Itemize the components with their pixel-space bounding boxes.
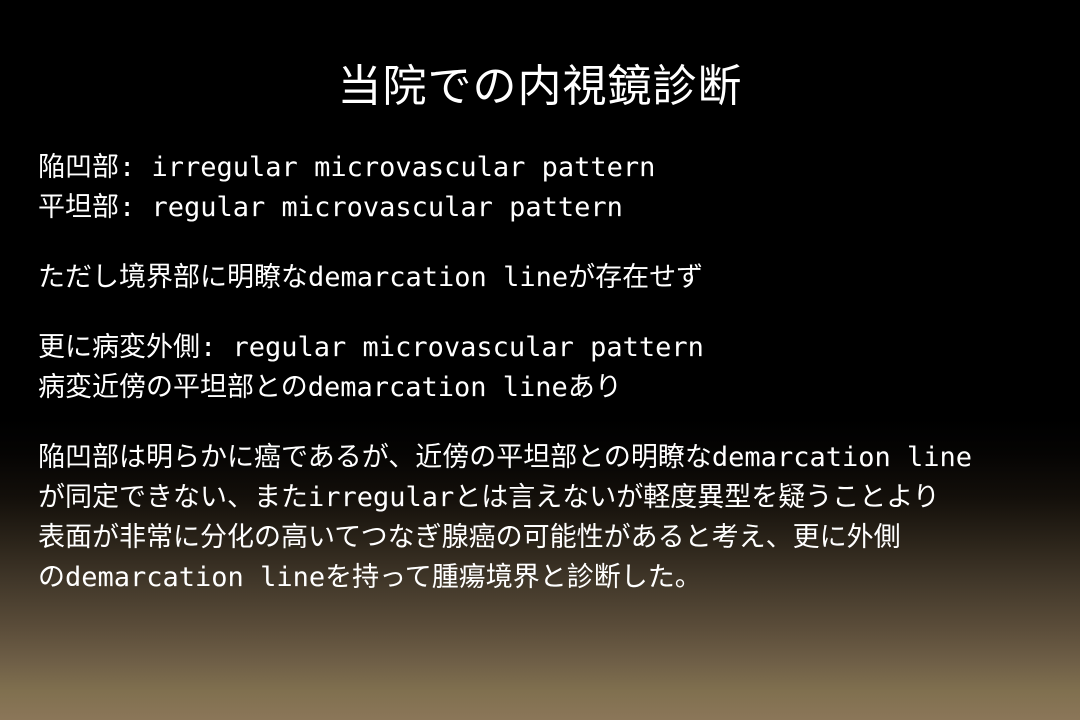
slide-body: 陥凹部: irregular microvascular pattern 平坦部… bbox=[38, 148, 1052, 598]
text-line: 陥凹部は明らかに癌であるが、近傍の平坦部との明瞭なdemarcation lin… bbox=[38, 438, 1052, 478]
text-line: 平坦部: regular microvascular pattern bbox=[38, 188, 1052, 228]
slide-title: 当院での内視鏡診断 bbox=[0, 61, 1080, 113]
text-line: 病変近傍の平坦部とのdemarcation lineあり bbox=[38, 368, 1052, 408]
text-line: 表面が非常に分化の高いてつなぎ腺癌の可能性があると考え、更に外側 bbox=[38, 518, 1052, 558]
text-line: 陥凹部: irregular microvascular pattern bbox=[38, 148, 1052, 188]
text-line: ただし境界部に明瞭なdemarcation lineが存在せず bbox=[38, 258, 1052, 298]
paragraph-diagnosis-conclusion: 陥凹部は明らかに癌であるが、近傍の平坦部との明瞭なdemarcation lin… bbox=[38, 438, 1052, 598]
text-line: 更に病変外側: regular microvascular pattern bbox=[38, 328, 1052, 368]
text-line: が同定できない、またirregularとは言えないが軽度異型を疑うことより bbox=[38, 478, 1052, 518]
paragraph-outer-lesion-findings: 更に病変外側: regular microvascular pattern 病変… bbox=[38, 328, 1052, 408]
paragraph-findings-depressed-flat: 陥凹部: irregular microvascular pattern 平坦部… bbox=[38, 148, 1052, 228]
presentation-slide: 当院での内視鏡診断 陥凹部: irregular microvascular p… bbox=[0, 0, 1080, 720]
paragraph-no-clear-demarcation: ただし境界部に明瞭なdemarcation lineが存在せず bbox=[38, 258, 1052, 298]
text-line: のdemarcation lineを持って腫瘍境界と診断した。 bbox=[38, 558, 1052, 598]
